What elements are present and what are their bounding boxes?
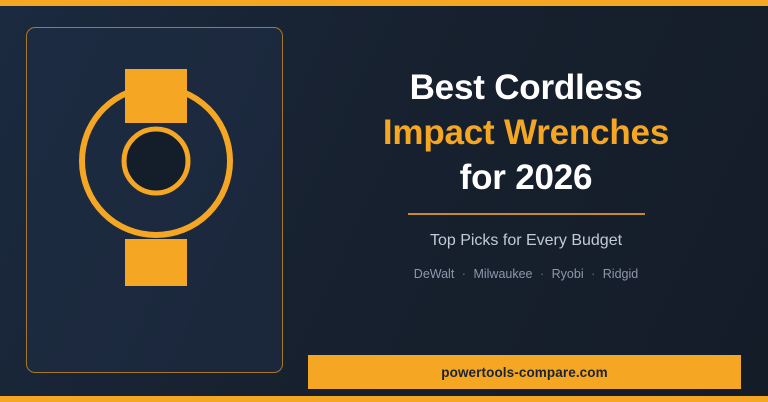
top-accent-bar (0, 0, 768, 6)
brand-separator-0: · (458, 267, 470, 281)
brand-item-0: DeWalt (414, 267, 455, 281)
illustration-card (26, 27, 283, 373)
headline-line-3: for 2026 (383, 155, 669, 200)
website-url-label: powertools-compare.com (441, 365, 607, 380)
promo-banner: Best Cordless Impact Wrenches for 2026 T… (0, 0, 768, 402)
brand-separator-1: · (536, 267, 548, 281)
brand-item-2: Ryobi (552, 267, 584, 281)
brand-separator-2: · (587, 267, 599, 281)
headline-line-2: Impact Wrenches (383, 110, 669, 155)
brand-item-3: Ridgid (603, 267, 638, 281)
website-url-button[interactable]: powertools-compare.com (308, 355, 741, 389)
impact-wrench-socket-icon (27, 28, 284, 374)
subtitle: Top Picks for Every Budget (430, 215, 622, 250)
text-column: Best Cordless Impact Wrenches for 2026 T… (310, 27, 742, 373)
bottom-accent-bar (0, 396, 768, 402)
brand-item-1: Milwaukee (473, 267, 532, 281)
page-title: Best Cordless Impact Wrenches for 2026 (383, 27, 669, 200)
headline-line-1: Best Cordless (383, 65, 669, 110)
brand-list: DeWalt · Milwaukee · Ryobi · Ridgid (414, 250, 638, 281)
